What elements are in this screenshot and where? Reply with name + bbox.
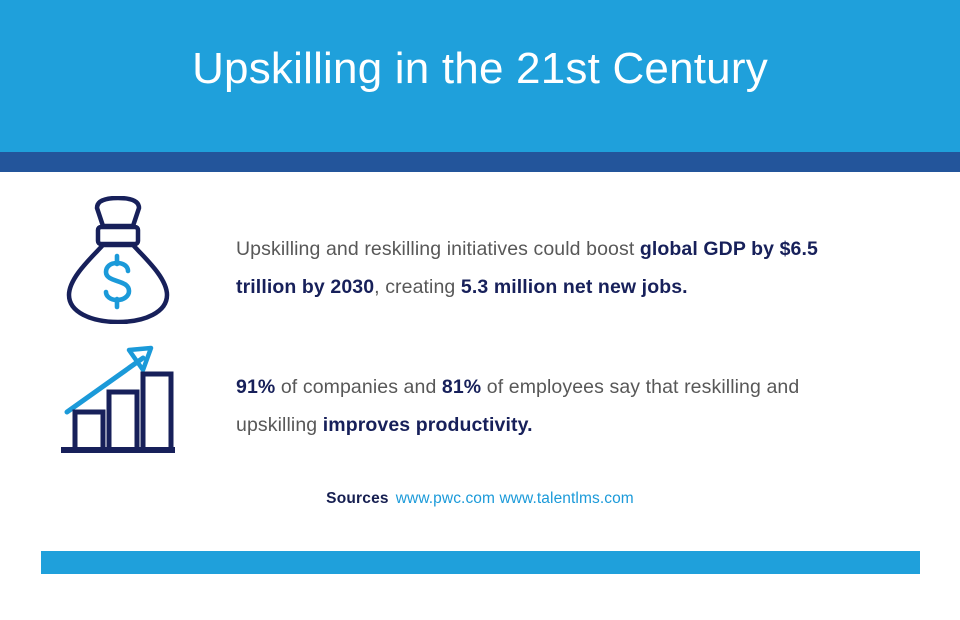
fact-text-gdp: Upskilling and reskilling initiatives co… — [236, 196, 876, 306]
page-title: Upskilling in the 21st Century — [0, 45, 960, 93]
fact-segment: , creating — [374, 276, 461, 298]
sources-links: www.pwc.com www.talentlms.com — [396, 490, 634, 507]
footer-accent-bar — [41, 551, 920, 574]
fact-row-productivity: 91% of companies and 81% of employees sa… — [0, 340, 876, 460]
header-accent-bar — [0, 152, 960, 172]
fact-segment-bold: improves productivity. — [323, 414, 533, 436]
growth-bar-chart-icon — [59, 340, 177, 460]
fact-text-cell-productivity: 91% of companies and 81% of employees sa… — [236, 340, 876, 444]
growth-chart-icon-cell — [0, 340, 236, 460]
money-bag-icon — [63, 196, 173, 324]
sources-line: Sourceswww.pwc.com www.talentlms.com — [0, 490, 960, 508]
source-link-talentlms[interactable]: www.talentlms.com — [499, 490, 633, 507]
fact-segment-bold: 91% — [236, 376, 275, 398]
fact-text-cell-gdp: Upskilling and reskilling initiatives co… — [236, 196, 876, 306]
fact-segment-bold: 5.3 million net new jobs. — [461, 276, 688, 298]
fact-segment: of companies and — [275, 376, 442, 398]
fact-segment: Upskilling and reskilling initiatives co… — [236, 238, 640, 260]
fact-text-productivity: 91% of companies and 81% of employees sa… — [236, 340, 876, 444]
fact-row-gdp: Upskilling and reskilling initiatives co… — [0, 196, 876, 324]
infographic-slide: Upskilling in the 21st Century — [0, 0, 960, 620]
sources-label: Sources — [326, 490, 389, 507]
money-bag-icon-cell — [0, 196, 236, 324]
source-link-pwc[interactable]: www.pwc.com — [396, 490, 495, 507]
fact-segment-bold: 81% — [442, 376, 481, 398]
